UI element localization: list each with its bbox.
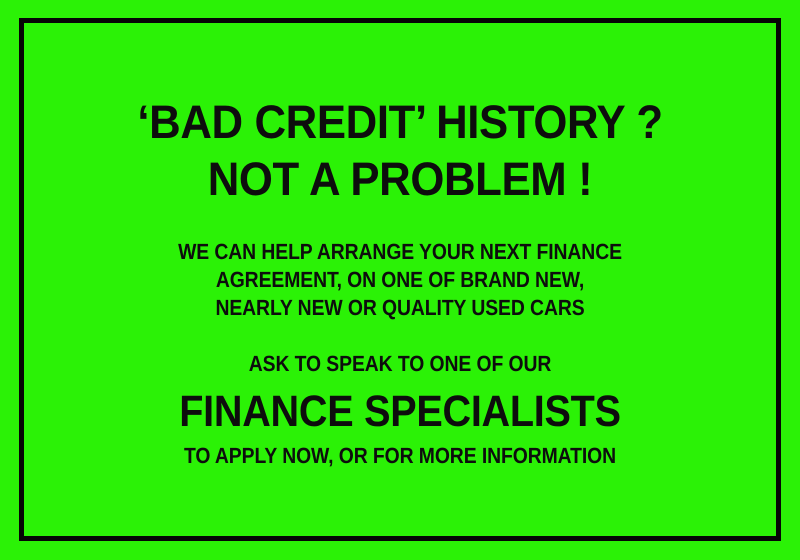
call-to-action-closing: TO APPLY NOW, OR FOR MORE INFORMATION bbox=[69, 442, 731, 470]
paragraph-one-line-3: NEARLY NEW OR QUALITY USED CARS bbox=[69, 294, 731, 322]
spacer bbox=[24, 378, 776, 381]
paragraph-one-line-2: AGREEMENT, ON ONE OF BRAND NEW, bbox=[69, 266, 731, 294]
paragraph-one-line-1: WE CAN HELP ARRANGE YOUR NEXT FINANCE bbox=[69, 238, 731, 266]
headline-line-2: NOT A PROBLEM ! bbox=[50, 150, 749, 207]
call-to-action-lead-in: ASK TO SPEAK TO ONE OF OUR bbox=[69, 350, 731, 378]
headline-line-1: ‘BAD CREDIT’ HISTORY ? bbox=[50, 93, 749, 150]
paragraph-two-block: ASK TO SPEAK TO ONE OF OUR FINANCE SPECI… bbox=[24, 350, 776, 470]
finance-specialists-emphasis: FINANCE SPECIALISTS bbox=[62, 385, 739, 439]
poster-content: ‘BAD CREDIT’ HISTORY ? NOT A PROBLEM ! W… bbox=[24, 23, 776, 536]
advertisement-poster: ‘BAD CREDIT’ HISTORY ? NOT A PROBLEM ! W… bbox=[0, 0, 800, 560]
headline-block: ‘BAD CREDIT’ HISTORY ? NOT A PROBLEM ! bbox=[24, 93, 776, 207]
paragraph-one-block: WE CAN HELP ARRANGE YOUR NEXT FINANCE AG… bbox=[24, 238, 776, 322]
